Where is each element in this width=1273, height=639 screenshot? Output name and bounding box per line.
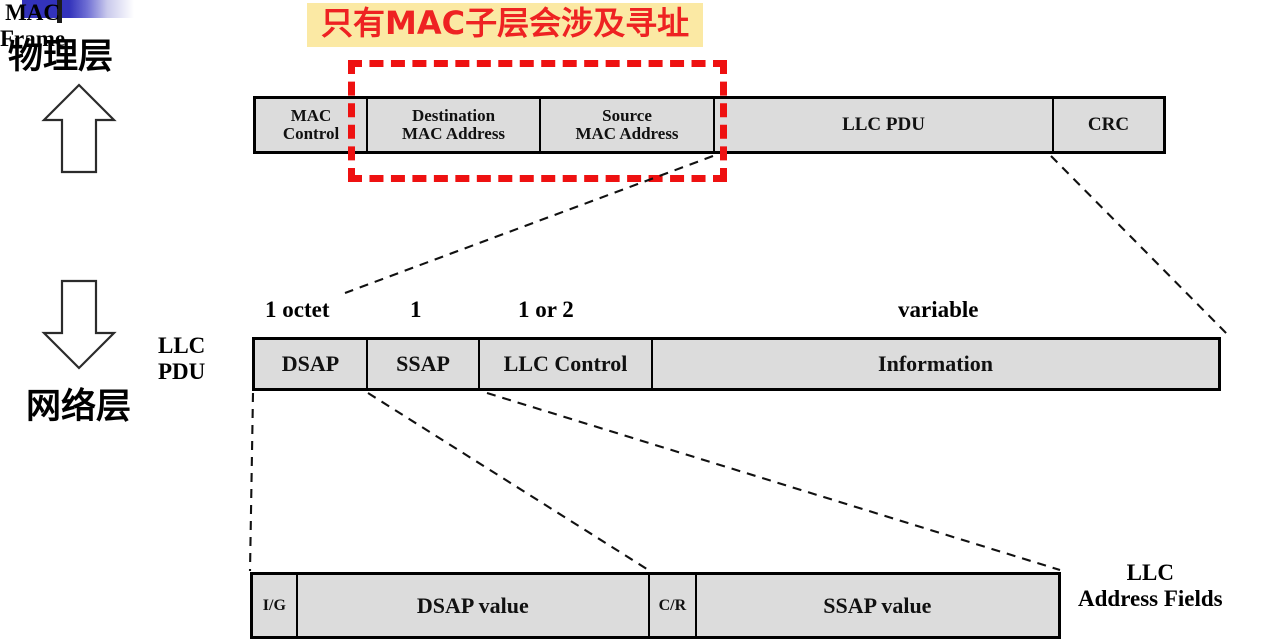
llc-address-cell-ig: I/G bbox=[253, 575, 298, 636]
llc-pdu-cell-llc-control: LLC Control bbox=[480, 340, 653, 388]
mac-control-line1: MAC bbox=[283, 107, 339, 125]
size-label-dsap: 1 octet bbox=[265, 297, 330, 323]
mac-control-line2: Control bbox=[283, 125, 339, 143]
mac-frame-caption: MAC Frame bbox=[0, 0, 65, 52]
arrow-up-icon bbox=[44, 85, 114, 172]
mac-frame-cell-crc: CRC bbox=[1054, 99, 1163, 151]
slide-canvas: 物理层 网络层 只有MAC子层会涉及寻址 MAC Frame MAC Contr… bbox=[0, 0, 1273, 639]
highlight-banner-text: 只有MAC子层会涉及寻址 bbox=[307, 3, 703, 47]
llc-pdu-caption: LLC PDU bbox=[158, 333, 205, 385]
llc-pdu-row: DSAP SSAP LLC Control Information bbox=[252, 337, 1221, 391]
mac-frame-caption-line2: Frame bbox=[0, 26, 65, 52]
connector-control-to-ssap-value bbox=[487, 393, 1060, 570]
llc-address-caption-line1: LLC bbox=[1078, 560, 1223, 586]
size-label-llc-control: 1 or 2 bbox=[518, 297, 574, 323]
llc-pdu-caption-line1: LLC bbox=[158, 333, 205, 359]
llc-address-fields-caption: LLC Address Fields bbox=[1078, 560, 1223, 612]
llc-address-cell-cr: C/R bbox=[650, 575, 697, 636]
llc-address-cell-dsap-value: DSAP value bbox=[298, 575, 650, 636]
arrow-down-icon bbox=[44, 281, 114, 368]
llc-address-fields-row: I/G DSAP value C/R SSAP value bbox=[250, 572, 1061, 639]
connector-dsap-to-address bbox=[250, 393, 253, 571]
mac-frame-cell-llc-pdu: LLC PDU bbox=[715, 99, 1054, 151]
addressing-highlight-box bbox=[348, 60, 727, 182]
layer-label-network: 网络层 bbox=[26, 378, 131, 429]
llc-pdu-cell-information: Information bbox=[653, 340, 1218, 388]
size-label-ssap: 1 bbox=[410, 297, 422, 323]
llc-pdu-cell-ssap: SSAP bbox=[368, 340, 480, 388]
llc-pdu-caption-line2: PDU bbox=[158, 359, 205, 385]
mac-frame-caption-line1: MAC bbox=[0, 0, 65, 26]
llc-address-cell-ssap-value: SSAP value bbox=[697, 575, 1058, 636]
connector-llc-pdu-right bbox=[1051, 156, 1227, 334]
llc-pdu-cell-dsap: DSAP bbox=[255, 340, 368, 388]
connector-ssap-to-cr bbox=[368, 393, 650, 571]
llc-address-caption-line2: Address Fields bbox=[1078, 586, 1223, 612]
size-label-information: variable bbox=[898, 297, 979, 323]
